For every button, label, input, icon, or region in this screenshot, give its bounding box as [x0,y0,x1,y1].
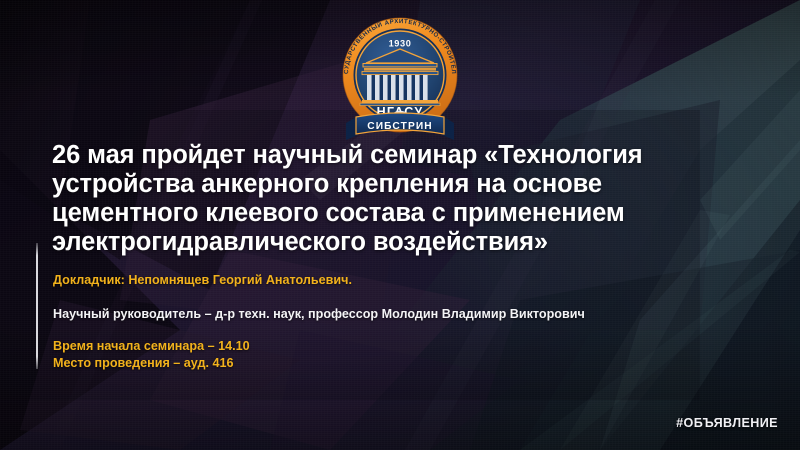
left-accent-rule [36,243,38,369]
start-time-line: Время начала семинара – 14.10 [53,338,250,354]
supervisor-line: Научный руководитель – д-р техн. наук, п… [53,306,585,322]
venue-line: Место проведения – ауд. 416 [53,355,234,371]
headline-title: 26 мая пройдет научный семинар «Технолог… [52,141,692,257]
slide-content: 26 мая пройдет научный семинар «Технолог… [0,0,800,450]
hashtag-label: #ОБЪЯВЛЕНИЕ [676,415,778,431]
speaker-line: Докладчик: Непомнящев Георгий Анатольеви… [53,272,352,288]
announcement-slide: НОВОСИБИРСКИЙ ГОСУДАРСТВЕННЫЙ АРХИТЕКТУР… [0,0,800,450]
